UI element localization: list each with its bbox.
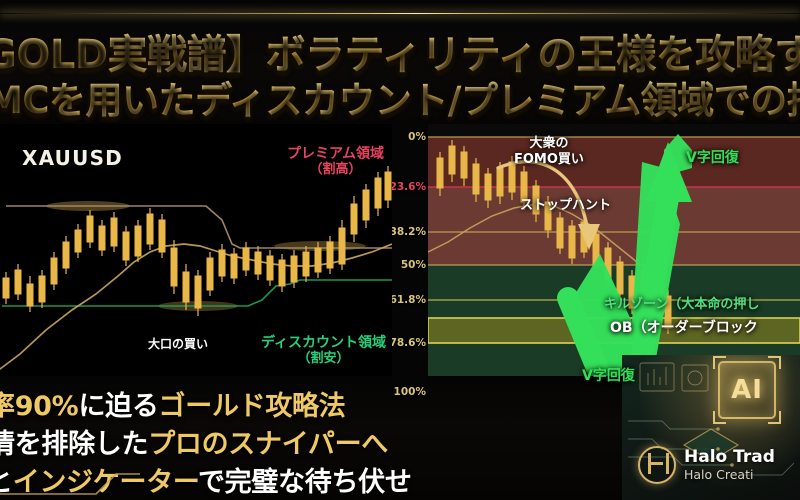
fomo-annotation-line1: 大衆の <box>514 136 584 152</box>
bottom-line-3-seg-2: で完璧な待ち伏せ <box>198 467 412 498</box>
brand-block: AI Halo Trad Halo Creati <box>622 355 800 500</box>
bottom-line-3-seg-1: インジケーター <box>13 467 198 498</box>
fib-tick-786: 78.6% <box>392 337 426 349</box>
thumbnail-canvas: GOLD実戦譜】ボラティリティの王様を攻略する」 MCを用いたディスカウント/プ… <box>0 0 800 500</box>
fomo-annotation: 大衆の FOMO買い <box>514 136 584 167</box>
bottom-line-1: 率90%に迫るゴールド攻略法 <box>0 384 345 423</box>
halo-logo-icon <box>638 446 676 484</box>
discount-zone-label: ディスカウント領域 （割安） <box>261 335 386 366</box>
stop-hunt-annotation: ストップハント <box>520 198 611 214</box>
bottom-line-3: とインジケーターで完璧な待ち伏せ <box>0 460 412 499</box>
title-glow-divider <box>0 13 800 14</box>
order-block-label: OB（オーダーブロック <box>610 320 758 337</box>
fib-tick-236: 23.6% <box>392 181 426 193</box>
v-recovery-bottom-label: V字回復 <box>582 368 635 385</box>
brand-tagline: Halo Creati <box>684 468 775 482</box>
fib-tick-382: 38.2% <box>392 226 426 238</box>
zone-premium-light <box>428 187 800 265</box>
fib-tick-618: 61.8% <box>392 294 426 306</box>
premium-zone-label: プレミアム領域 （割高） <box>287 146 384 177</box>
bottom-line-3-seg-0: と <box>0 467 13 498</box>
brand-name: Halo Trad <box>684 448 775 467</box>
bottom-line-1-seg-0: 率90% <box>0 391 78 422</box>
fibonacci-axis: 0% 23.6% 38.2% 50% 61.8% 78.6% 100% <box>392 124 428 400</box>
symbol-label: XAUUSD <box>22 146 123 170</box>
title-line-2: MCを用いたディスカウント/プレミアム領域での押し目買 <box>0 70 800 124</box>
bottom-line-2: 情を排除したプロのスナイパーへ <box>0 422 388 461</box>
fib-tick-50: 50% <box>401 259 426 271</box>
discount-zone-label-main: ディスカウント領域 <box>261 335 386 351</box>
bottom-line-1-seg-1: に迫る <box>78 391 158 422</box>
discount-zone-label-sub: （割安） <box>261 351 386 366</box>
big-buy-label: 大口の買い <box>148 338 208 352</box>
bottom-line-2-seg-0: 情を排除した <box>0 429 148 460</box>
premium-zone-label-main: プレミアム領域 <box>287 146 384 162</box>
bottom-line-1-seg-2: ゴールド攻略法 <box>159 391 346 422</box>
kill-zone-label: キルゾーン（大本命の押し <box>604 297 759 313</box>
bottom-line-2-seg-1: プロのスナイパーへ <box>148 429 388 460</box>
fib-tick-0: 0% <box>408 131 426 143</box>
left-price-chart: XAUUSD プレミアム領域 （割高） ディスカウント領域 （割安） 大口の買い <box>0 124 392 376</box>
fib-tick-100: 100% <box>394 386 426 398</box>
brand-text: Halo Trad Halo Creati <box>684 448 775 481</box>
fomo-annotation-line2: FOMO買い <box>514 152 584 168</box>
v-recovery-top-label: V字回復 <box>686 150 739 167</box>
brand-lockup: Halo Trad Halo Creati <box>638 446 775 484</box>
ai-chip-label: AI <box>731 375 763 405</box>
premium-zone-label-sub: （割高） <box>287 162 384 177</box>
zone-premium-dark <box>428 137 800 187</box>
ai-chip-icon: AI <box>718 361 776 419</box>
title-band: GOLD実戦譜】ボラティリティの王様を攻略する」 MCを用いたディスカウント/プ… <box>0 0 800 124</box>
